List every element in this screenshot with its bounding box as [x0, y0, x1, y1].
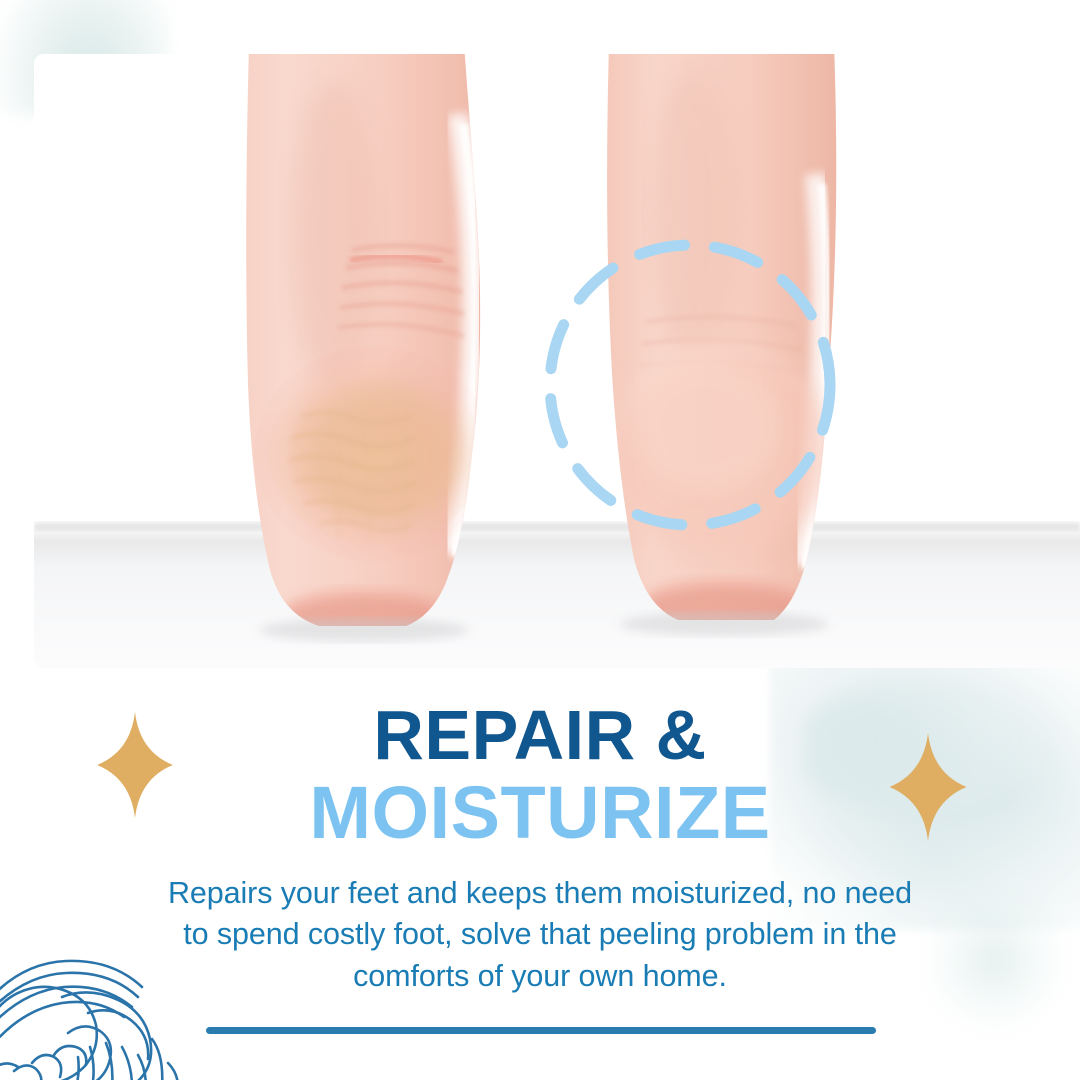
headline-primary: REPAIR & — [0, 700, 1080, 770]
headline-secondary: MOISTURIZE — [0, 774, 1080, 852]
feet-photo-illustration — [34, 54, 1080, 668]
headline-block: REPAIR & MOISTURIZE — [0, 700, 1080, 852]
floral-line-art-icon — [0, 951, 222, 1080]
body-description: Repairs your feet and keeps them moistur… — [110, 873, 970, 997]
divider-rule — [206, 1027, 876, 1034]
poster-canvas: REPAIR & MOISTURIZE Repairs your feet an… — [0, 0, 1080, 1080]
product-photo — [34, 54, 1080, 668]
